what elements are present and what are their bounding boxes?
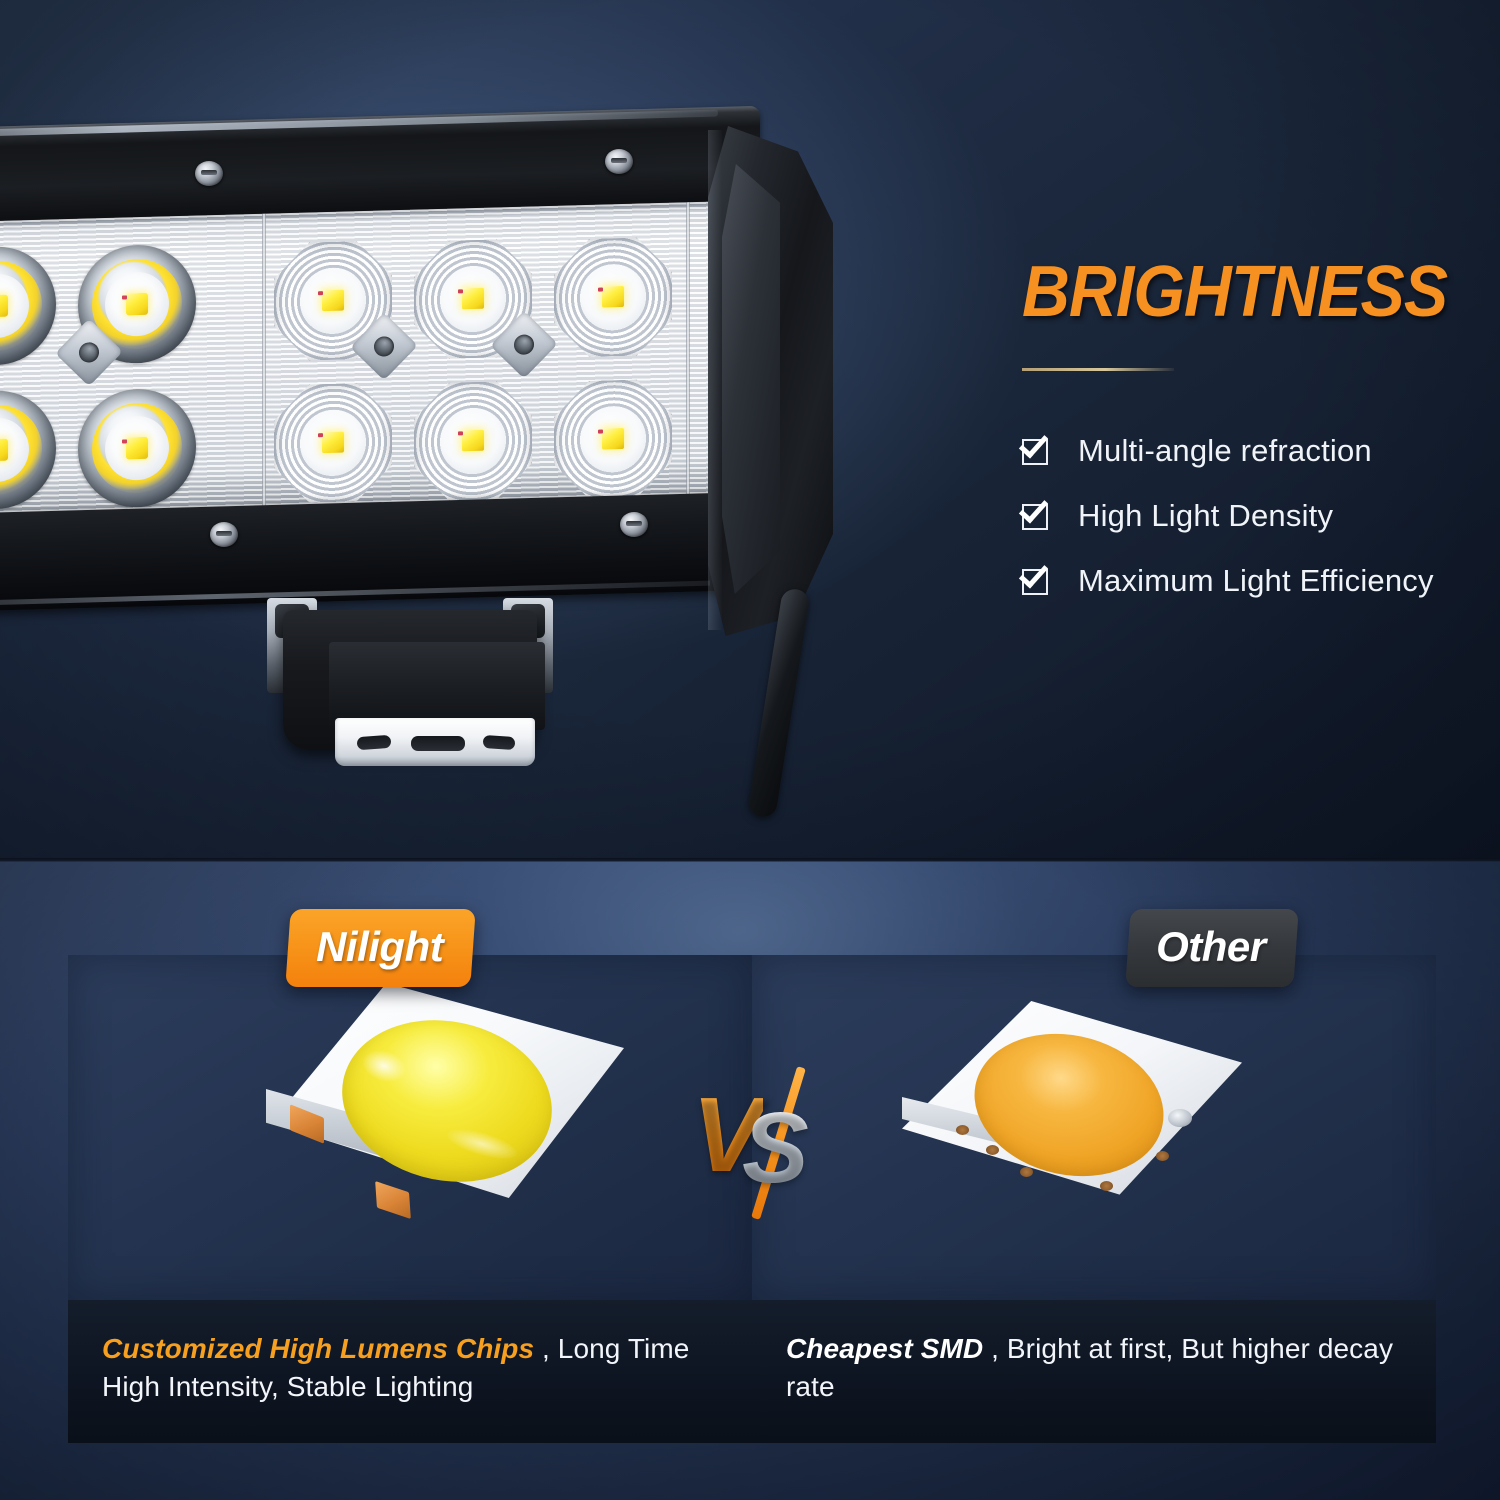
- led-reflector-cup: [78, 388, 196, 509]
- feature-label: Maximum Light Efficiency: [1078, 563, 1434, 599]
- product-infographic: BRIGHTNESS Multi-angle refraction High L…: [0, 0, 1500, 1500]
- end-cap-facet: [722, 164, 780, 594]
- led-spot-lens: [554, 237, 672, 358]
- feature-item: Maximum Light Efficiency: [1022, 563, 1492, 599]
- led-chip: [322, 432, 344, 454]
- bracket-slot: [411, 736, 465, 751]
- comparison-card-other: Cheapest SMD , Bright at first, But high…: [752, 955, 1436, 1443]
- bracket-slot: [357, 735, 392, 750]
- led-chip: [462, 430, 484, 452]
- led-chip: [602, 286, 624, 308]
- led-reflector-cup: [0, 389, 56, 510]
- bracket-inner-face: [329, 642, 545, 730]
- section-divider: [0, 858, 1500, 862]
- caption-text: Customized High Lumens Chips , Long Time…: [102, 1330, 718, 1405]
- led-reflector-cup: [0, 245, 56, 366]
- led-light-bar-image: [0, 118, 930, 678]
- chip-contact-dot: [1100, 1181, 1113, 1191]
- section-heading: BRIGHTNESS: [1022, 256, 1454, 328]
- panel-seam: [686, 202, 690, 502]
- nilight-caption: Customized High Lumens Chips , Long Time…: [68, 1300, 752, 1443]
- feature-item: High Light Density: [1022, 498, 1492, 534]
- caption-emphasis: Cheapest SMD: [786, 1333, 983, 1364]
- check-icon: [1022, 436, 1052, 466]
- badge-nilight: Nilight: [285, 909, 476, 987]
- led-spot-lens: [554, 379, 672, 500]
- check-icon: [1022, 501, 1052, 531]
- brightness-text-block: BRIGHTNESS Multi-angle refraction High L…: [1022, 256, 1492, 628]
- led-chip: [462, 288, 484, 310]
- chip-contact-pad: [375, 1181, 411, 1219]
- feature-label: Multi-angle refraction: [1078, 433, 1372, 469]
- led-chip: [126, 437, 148, 460]
- bracket-base-plate: [335, 718, 535, 766]
- badge-label: Other: [1156, 923, 1266, 971]
- comparison-card-nilight: Customized High Lumens Chips , Long Time…: [68, 955, 752, 1443]
- led-spot-lens: [274, 382, 392, 503]
- check-icon: [1022, 566, 1052, 596]
- nilight-chip-photo: [68, 955, 752, 1300]
- feature-list: Multi-angle refraction High Light Densit…: [1022, 433, 1492, 599]
- versus-s: S: [742, 1098, 809, 1198]
- caption-text: Cheapest SMD , Bright at first, But high…: [786, 1330, 1402, 1405]
- chip-contact-dot: [956, 1125, 969, 1135]
- housing-screw: [620, 512, 648, 537]
- led-chip: [0, 439, 8, 462]
- chip-contact-dot: [1156, 1151, 1169, 1161]
- other-caption: Cheapest SMD , Bright at first, But high…: [752, 1300, 1436, 1443]
- end-cap-edge-highlight: [708, 130, 722, 630]
- chip-contact-dot: [1020, 1167, 1033, 1177]
- badge-other: Other: [1125, 909, 1298, 987]
- chip-alignment-notch: [1168, 1109, 1192, 1127]
- feature-label: High Light Density: [1078, 498, 1333, 534]
- lens-panel: [0, 201, 730, 525]
- caption-emphasis: Customized High Lumens Chips: [102, 1333, 534, 1364]
- chip-contact-dot: [986, 1145, 999, 1155]
- versus-mark: V S: [690, 1068, 830, 1218]
- brightness-section: BRIGHTNESS Multi-angle refraction High L…: [0, 0, 1500, 861]
- led-chip: [0, 295, 8, 318]
- housing-screw: [605, 149, 633, 174]
- bracket-slot: [483, 735, 516, 750]
- badge-label: Nilight: [316, 923, 443, 971]
- panel-seam: [262, 214, 266, 514]
- led-chip: [602, 428, 624, 450]
- led-spot-lens: [414, 380, 532, 501]
- heading-underline: [1022, 368, 1174, 371]
- other-chip-photo: [752, 955, 1436, 1300]
- other-led-chip: [902, 1001, 1242, 1251]
- housing-screw: [210, 522, 238, 547]
- feature-item: Multi-angle refraction: [1022, 433, 1492, 469]
- bracket-body: [283, 610, 537, 750]
- led-chip: [322, 290, 344, 312]
- led-chip: [126, 293, 148, 316]
- mounting-bracket: [255, 588, 565, 778]
- housing-screw: [195, 161, 223, 186]
- nilight-led-chip: [264, 983, 624, 1263]
